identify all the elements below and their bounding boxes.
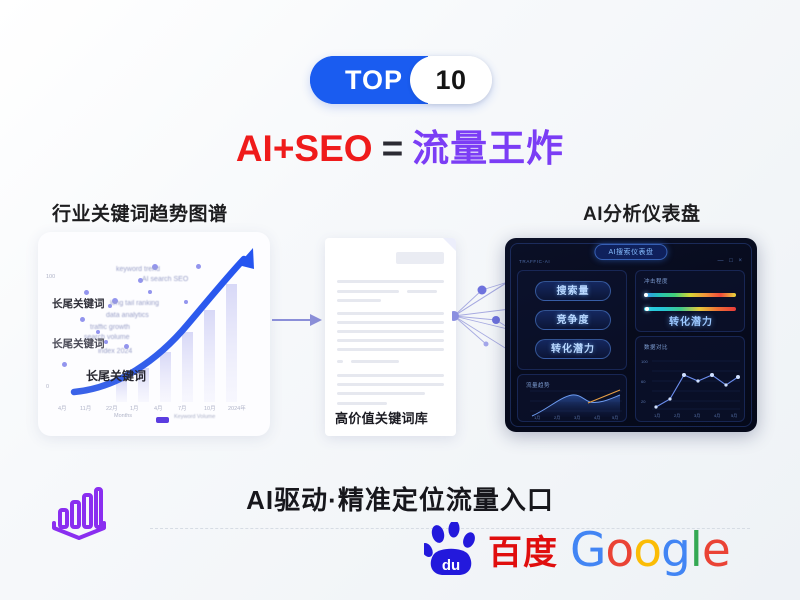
chart-legend-swatch	[156, 417, 169, 423]
doc-text-line	[337, 299, 381, 302]
chart-x-axis-label: Months	[114, 413, 132, 419]
doc-text-line	[337, 339, 444, 342]
doc-text-line	[337, 383, 444, 386]
panel-x-tick: 1月	[654, 413, 660, 419]
doc-text-line	[337, 402, 387, 405]
doc-text-line	[337, 312, 444, 315]
chart-dot	[80, 317, 85, 322]
google-letter-e: e	[702, 523, 730, 578]
bar-chart-icon	[48, 482, 110, 544]
panel-x-tick: 3月	[694, 413, 700, 419]
chart-blur-word: long tail ranking	[110, 300, 159, 307]
doc-text-line	[337, 280, 444, 283]
doc-folded-corner-icon	[443, 238, 456, 251]
slide-canvas: TOP 10 AI+SEO=流量王炸 行业关键词趋势图谱 AI分析仪表盘	[0, 0, 800, 600]
keyword-label: 长尾关键词	[52, 296, 105, 311]
section-label-left: 行业关键词趋势图谱	[52, 199, 228, 226]
panel-y-tick: 60	[641, 379, 645, 384]
chart-x-tick: 2024年	[228, 404, 246, 412]
gauge-bar-primary	[644, 293, 736, 297]
dashboard-brand-label: TRAFFIC-AI	[519, 259, 550, 264]
metric-button-search-volume[interactable]: 搜索量	[535, 281, 611, 301]
dashboard-trend-panel: 流量趋势 1月 2月 3月 4月	[517, 374, 627, 422]
keyword-label: 长尾关键词	[52, 336, 105, 351]
gauge-center-label: 转化潜力	[636, 313, 746, 328]
google-letter-l: l	[690, 523, 702, 578]
google-logo: Google	[570, 523, 730, 579]
panel-x-tick: 4月	[594, 415, 600, 421]
chart-dot	[84, 290, 89, 295]
doc-header-block	[396, 252, 444, 264]
dashboard-metrics-panel: 搜索量 竞争度 转化潜力	[517, 270, 627, 370]
chart-inner: keyword trend AI search SEO long tail ra…	[38, 232, 270, 436]
doc-card-title: 高价值关键词库	[335, 408, 428, 427]
chart-dot	[148, 290, 152, 294]
page-title: AI+SEO=流量王炸	[0, 126, 800, 172]
top-rank-badge: TOP 10	[310, 56, 492, 104]
doc-text-line	[337, 290, 399, 293]
google-letter-g1: G	[570, 523, 605, 578]
dashboard-gauge-panel: 冲击程度 转化潜力	[635, 270, 745, 332]
baidu-logo: du 百度	[424, 522, 486, 583]
flow-arrow-1-icon	[272, 312, 322, 328]
chart-y-tick: 0	[46, 384, 49, 390]
doc-text-line	[337, 374, 444, 377]
badge-number-label: 10	[410, 65, 492, 95]
section-label-right: AI分析仪表盘	[583, 199, 701, 226]
panel-x-tick: 4月	[714, 413, 720, 419]
panel-y-tick: 100	[641, 359, 648, 364]
gauge-bar-secondary	[644, 307, 736, 311]
chart-x-tick: 22月	[106, 404, 118, 412]
chart-blur-word: data analytics	[106, 312, 149, 319]
panel-x-tick: 2月	[674, 413, 680, 419]
doc-text-line	[337, 360, 343, 363]
gauge-marker	[645, 307, 649, 311]
title-equals: =	[382, 128, 404, 169]
panel-x-tick: 1月	[534, 415, 540, 421]
ai-dashboard: AI搜索仪表盘 TRAFFIC-AI — □ × 搜索量 竞争度 转化潜力 流量…	[505, 238, 757, 432]
panel-title: 流量趋势	[526, 381, 550, 389]
badge-top-label: TOP	[326, 65, 422, 95]
dashboard-comparison-panel: 数据对比 1月 2月 3月	[635, 336, 745, 422]
panel-x-tick: 3月	[574, 415, 580, 421]
metric-button-conversion[interactable]: 转化潜力	[535, 339, 611, 359]
chart-x-tick: 10月	[204, 404, 216, 412]
chart-dot	[62, 362, 67, 367]
chart-y-tick: 100	[46, 274, 55, 280]
chart-x-tick: 1月	[130, 404, 139, 412]
chart-legend-label: Keyword Volume	[174, 414, 215, 420]
keyword-library-doc-card: 高价值关键词库	[325, 238, 456, 436]
dashboard-header-pill: AI搜索仪表盘	[594, 244, 667, 260]
panel-x-tick: 5月	[612, 415, 618, 421]
baidu-cn-text: 百度	[488, 534, 558, 572]
panel-title: 数据对比	[644, 343, 668, 351]
keyword-label: 长尾关键词	[86, 367, 146, 384]
google-letter-g2: g	[661, 523, 690, 578]
chart-dot	[196, 264, 201, 269]
google-letter-o2: o	[633, 523, 661, 578]
dashboard-window-controls[interactable]: — □ ×	[718, 258, 744, 264]
doc-text-line	[337, 348, 444, 351]
gauge-marker	[644, 293, 648, 297]
panel-y-tick: 20	[641, 399, 645, 404]
chart-dot	[184, 300, 188, 304]
chart-x-tick: 11月	[80, 404, 91, 412]
panel-x-tick: 2月	[554, 415, 560, 421]
doc-text-line	[351, 360, 399, 363]
doc-text-line	[337, 392, 425, 395]
chart-blur-word: traffic growth	[90, 324, 130, 331]
bottom-headline: AI驱动·精准定位流量入口	[0, 480, 800, 517]
baidu-du-text: du	[442, 557, 460, 574]
chart-blur-word: keyword trend	[116, 266, 160, 273]
panel-x-tick: 5月	[731, 413, 737, 419]
title-result: 流量王炸	[412, 128, 564, 169]
keyword-trend-chart-card: keyword trend AI search SEO long tail ra…	[38, 232, 270, 436]
title-ai-seo: AI+SEO	[236, 128, 373, 169]
chart-x-tick: 7月	[178, 404, 187, 412]
doc-text-line	[337, 321, 444, 324]
google-letter-o1: o	[605, 523, 633, 578]
baidu-paw-icon: du	[424, 522, 486, 578]
chart-blur-word: AI search SEO	[142, 276, 188, 283]
chart-x-tick: 4月	[58, 404, 67, 412]
chart-x-tick: 4月	[154, 404, 163, 412]
panel-title: 冲击程度	[644, 277, 668, 285]
doc-text-line	[407, 290, 437, 293]
doc-text-line	[337, 330, 444, 333]
metric-button-competition[interactable]: 竞争度	[535, 310, 611, 330]
